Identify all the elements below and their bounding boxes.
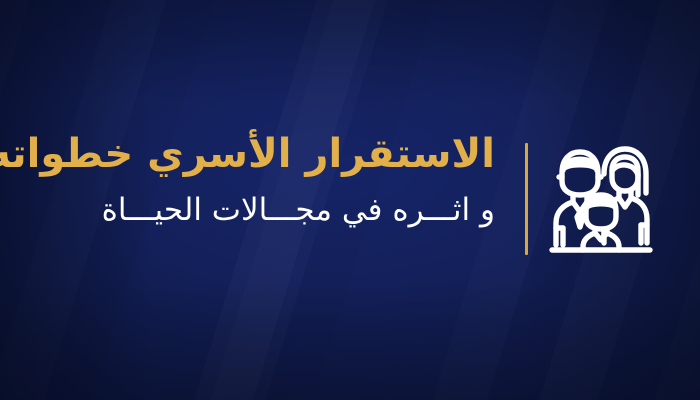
banner-root: الاستقرار الأسري خطواته و اثـــره في مجـ…	[0, 0, 700, 400]
page-subtitle: و اثـــره في مجـــالات الحيـــاة	[65, 191, 495, 230]
mother-collar	[619, 198, 631, 207]
father-hair	[564, 158, 596, 171]
mother-face	[612, 157, 638, 191]
mother-bangs	[612, 165, 638, 175]
headline-block: الاستقرار الأسري خطواته و اثـــره في مجـ…	[65, 132, 495, 230]
child-collar	[595, 233, 607, 240]
father-tie	[577, 212, 583, 227]
page-title: الاستقرار الأسري خطواته	[65, 132, 495, 177]
banner-content: الاستقرار الأسري خطواته و اثـــره في مجـ…	[0, 0, 700, 400]
family-icon	[546, 133, 658, 253]
family-icon-svg	[546, 133, 658, 253]
gold-divider	[525, 143, 528, 255]
